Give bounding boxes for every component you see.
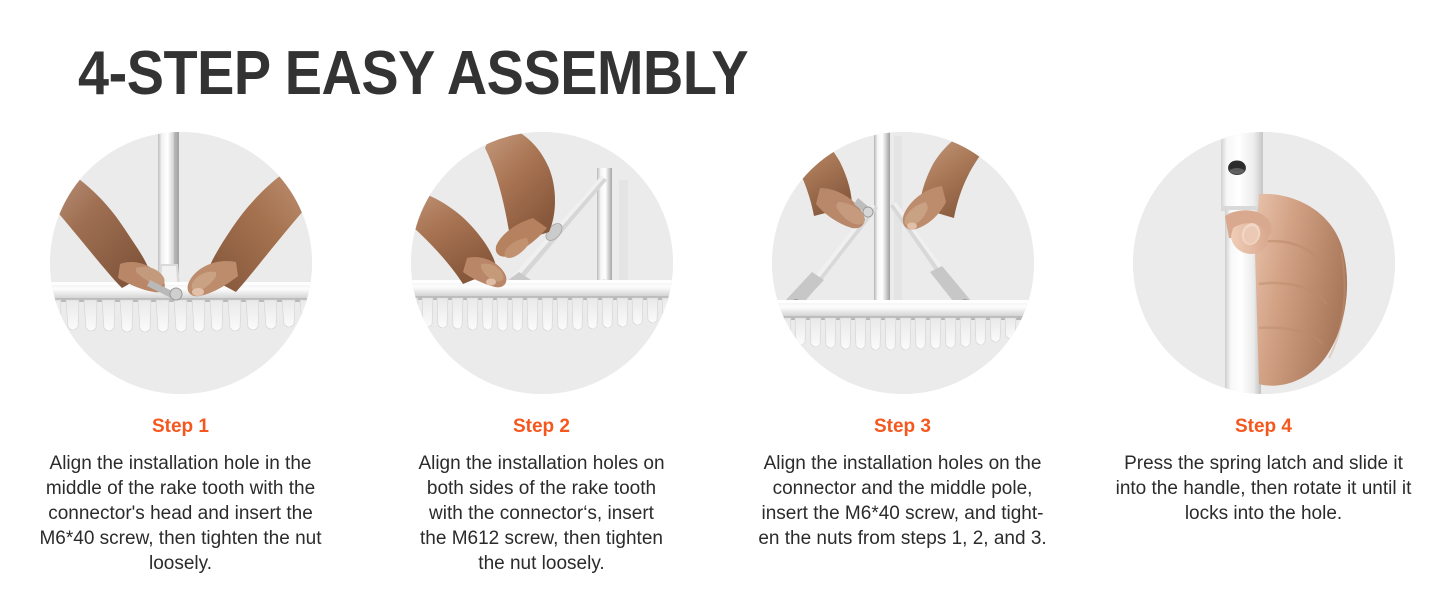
step-1-photo — [50, 132, 312, 394]
step-column-1: Step 1 Align the installation hole in th… — [0, 132, 361, 576]
step-1-label: Step 1 — [152, 416, 209, 438]
page-title: 4-STEP EASY ASSEMBLY — [78, 41, 748, 107]
step-4-description: Press the spring latch and slide it into… — [1105, 451, 1423, 526]
handle-spring-latch-illustration — [1133, 132, 1395, 394]
step-column-3: Step 3 Align the installation holes on t… — [722, 132, 1083, 551]
step-3-label: Step 3 — [874, 416, 931, 438]
step-1-description: Align the installation hole in the middl… — [22, 451, 340, 576]
rake-aframe-assembly-illustration — [772, 132, 1034, 394]
step-4-photo — [1133, 132, 1395, 394]
step-2-label: Step 2 — [513, 416, 570, 438]
assembly-infographic: 4-STEP EASY ASSEMBLY — [0, 0, 1445, 592]
step-column-4: Step 4 Press the spring latch and slide … — [1083, 132, 1444, 526]
step-4-label: Step 4 — [1235, 416, 1292, 438]
rake-brace-attach-illustration — [411, 132, 673, 394]
step-2-photo — [411, 132, 673, 394]
rake-screw-insert-illustration — [50, 132, 312, 394]
step-column-2: Step 2 Align the installation holes on b… — [361, 132, 722, 576]
steps-row: Step 1 Align the installation hole in th… — [0, 132, 1445, 576]
step-3-photo — [772, 132, 1034, 394]
step-2-description: Align the installation holes on both sid… — [392, 451, 692, 576]
step-3-description: Align the installation holes on the conn… — [743, 451, 1063, 551]
